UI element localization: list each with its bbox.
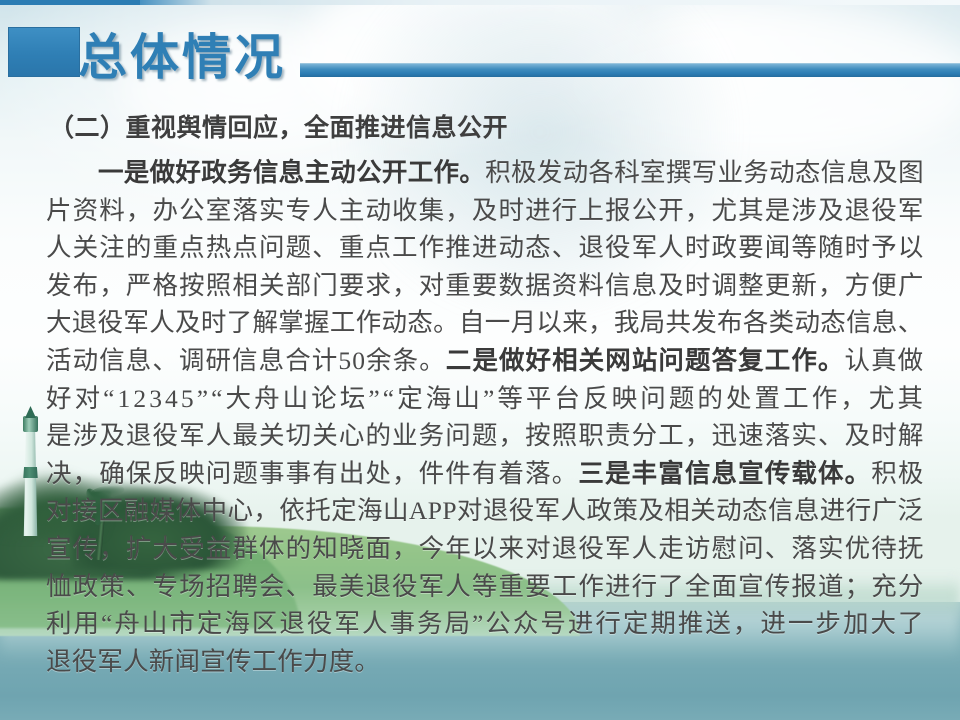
paragraph-line: 人关注的重点热点问题、重点工作推进动态、退役军人时政要闻等随时予以	[46, 229, 930, 267]
paragraph-emphasis: 二是做好相关网站问题答复工作。	[446, 346, 845, 375]
lighthouse-icon	[14, 404, 48, 536]
page-title: 总体情况	[78, 18, 286, 89]
paragraph-text: 活动信息、调研信息合计50余条。	[46, 346, 446, 375]
paragraph-line: 发布，严格按照相关部门要求，对重要数据资料信息及时调整更新，方便广	[46, 267, 930, 305]
paragraph-text: 积极发动各科室撰写业务动态信息及图	[485, 158, 924, 187]
paragraph-text: 认真做	[844, 346, 924, 375]
paragraph-line: 对接区融媒体中心，依托定海山APP对退役军人政策及相关动态信息进行广泛	[46, 492, 930, 530]
paragraph-text: 退役军人新闻宣传工作力度。	[46, 647, 380, 676]
paragraph-line: 大退役军人及时了解掌握工作动态。自一月以来，我局共发布各类动态信息、	[46, 304, 930, 342]
paragraph-text: 恤政策、专场招聘会、最美退役军人等重要工作进行了全面宣传报道；充分	[46, 572, 924, 601]
paragraph-text: 利用“舟山市定海区退役军人事务局”公众号进行定期推送，进一步加大了	[46, 609, 925, 638]
lighthouse-band	[21, 467, 40, 478]
paragraph-text: 好对“12345”“大舟山论坛”“定海山”等平台反映问题的处置工作，尤其	[46, 384, 926, 413]
lighthouse-lantern	[23, 416, 38, 432]
paragraph-line: 恤政策、专场招聘会、最美退役军人等重要工作进行了全面宣传报道；充分	[46, 568, 930, 606]
paragraph-line: 宣传，扩大受益群体的知晓面，今年以来对退役军人走访慰问、落实优待抚	[46, 530, 930, 568]
top-accent-bar	[0, 0, 960, 5]
paragraph-line: 活动信息、调研信息合计50余条。二是做好相关网站问题答复工作。认真做	[46, 342, 930, 380]
body-paragraph: 一是做好政务信息主动公开工作。积极发动各科室撰写业务动态信息及图片资料，办公室落…	[46, 154, 930, 680]
section-subtitle: （二）重视舆情回应，全面推进信息公开	[49, 108, 929, 144]
paragraph-line: 决，确保反映问题事事有出处，件件有着落。三是丰富信息宣传载体。积极	[46, 455, 930, 493]
paragraph-emphasis: 三是丰富信息宣传载体。	[578, 459, 871, 488]
paragraph-text: 决，确保反映问题事事有出处，件件有着落。	[46, 459, 578, 488]
lighthouse-roof	[25, 406, 36, 418]
title-square-marker	[8, 27, 80, 77]
top-accent-bar-strip	[0, 0, 140, 5]
paragraph-line: 好对“12345”“大舟山论坛”“定海山”等平台反映问题的处置工作，尤其	[46, 380, 930, 418]
paragraph-text: 宣传，扩大受益群体的知晓面，今年以来对退役军人走访慰问、落实优待抚	[46, 534, 924, 563]
paragraph-line: 一是做好政务信息主动公开工作。积极发动各科室撰写业务动态信息及图	[46, 154, 930, 192]
paragraph-text: 是涉及退役军人最关切关心的业务问题，按照职责分工，迅速落实、及时解	[46, 421, 924, 450]
paragraph-emphasis: 一是做好政务信息主动公开工作。	[98, 158, 485, 187]
paragraph-text: 对接区融媒体中心，依托定海山APP对退役军人政策及相关动态信息进行广泛	[46, 496, 923, 525]
presentation-slide: 总体情况 （二）重视舆情回应，全面推进信息公开 一是做好政务信息主动公开工作。积…	[0, 0, 960, 720]
paragraph-text: 片资料，办公室落实专人主动收集，及时进行上报公开，尤其是涉及退役军	[46, 196, 924, 225]
paragraph-line: 退役军人新闻宣传工作力度。	[46, 643, 930, 681]
lighthouse-body	[20, 430, 41, 536]
paragraph-text: 人关注的重点热点问题、重点工作推进动态、退役军人时政要闻等随时予以	[46, 233, 924, 262]
paragraph-text: 大退役军人及时了解掌握工作动态。自一月以来，我局共发布各类动态信息、	[46, 308, 924, 337]
paragraph-line: 是涉及退役军人最关切关心的业务问题，按照职责分工，迅速落实、及时解	[46, 417, 930, 455]
paragraph-text: 积极	[871, 459, 924, 488]
title-underline-rule	[300, 63, 960, 77]
paragraph-line: 片资料，办公室落实专人主动收集，及时进行上报公开，尤其是涉及退役军	[46, 192, 930, 230]
paragraph-line: 利用“舟山市定海区退役军人事务局”公众号进行定期推送，进一步加大了	[46, 605, 930, 643]
paragraph-text: 发布，严格按照相关部门要求，对重要数据资料信息及时调整更新，方便广	[46, 271, 924, 300]
